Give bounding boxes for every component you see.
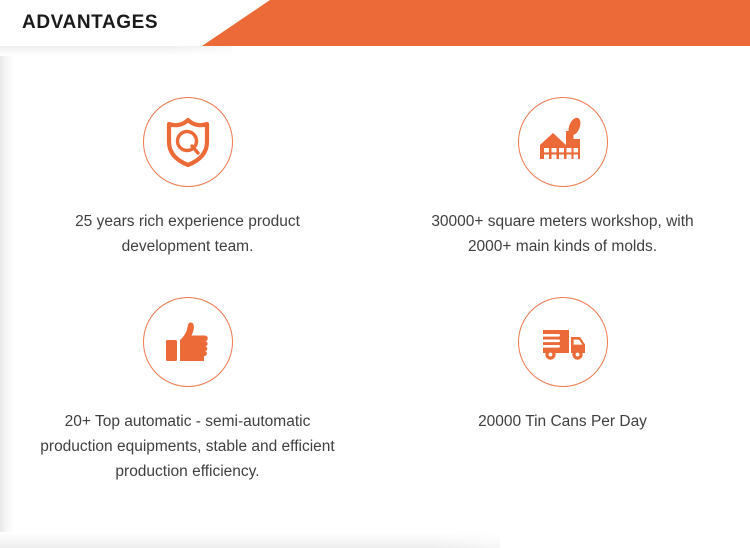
header-underline-fade: [160, 46, 270, 56]
delivery-truck-icon: [536, 315, 590, 369]
shield-quality-icon-circle: [143, 97, 233, 187]
shield-quality-icon: [162, 116, 214, 168]
advantage-card-capacity: 20000 Tin Cans Per Day: [375, 259, 750, 484]
page-header: ADVANTAGES: [0, 0, 750, 46]
page-bottom-edge-shadow: [0, 532, 500, 548]
advantage-text: 25 years rich experience product develop…: [38, 209, 338, 259]
advantages-page: ADVANTAGES 25 years rich experience prod…: [0, 0, 750, 548]
advantage-card-workshop: 30000+ square meters workshop, with 2000…: [375, 72, 750, 259]
advantages-grid: 25 years rich experience product develop…: [0, 72, 750, 484]
page-bottom-edge-fade: [430, 532, 550, 548]
advantage-card-quality: 25 years rich experience product develop…: [0, 72, 375, 259]
thumbs-up-icon: [162, 316, 214, 368]
thumbs-up-icon-circle: [143, 297, 233, 387]
delivery-truck-icon-circle: [518, 297, 608, 387]
advantage-card-equipment: 20+ Top automatic - semi-automatic produ…: [0, 259, 375, 484]
advantage-text: 20+ Top automatic - semi-automatic produ…: [38, 409, 338, 484]
factory-icon: [536, 115, 590, 169]
page-title: ADVANTAGES: [22, 12, 158, 34]
advantage-text: 30000+ square meters workshop, with 2000…: [418, 209, 708, 259]
factory-icon-circle: [518, 97, 608, 187]
advantage-text: 20000 Tin Cans Per Day: [418, 409, 708, 434]
